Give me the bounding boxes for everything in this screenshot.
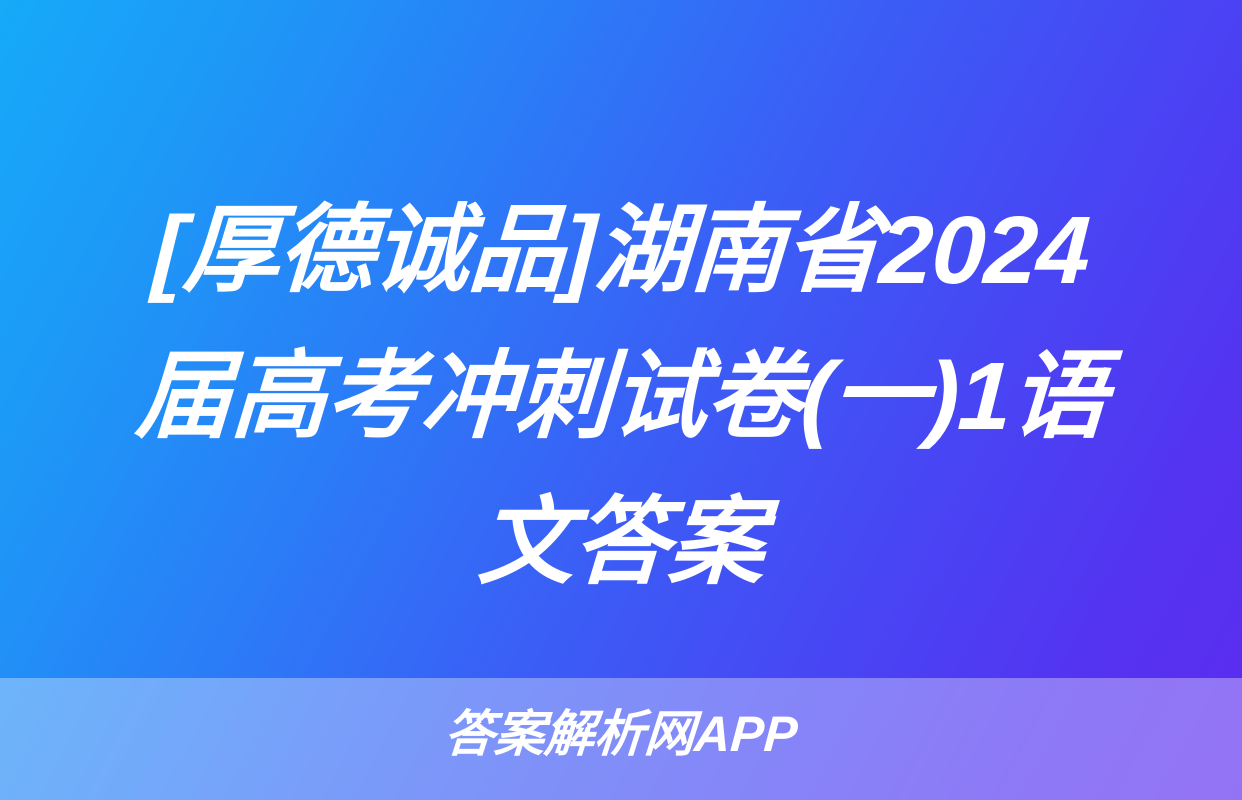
title-line-1: [厚德诚品]湖南省2024 (97, 178, 1145, 324)
title-line-3: 文答案 (97, 470, 1145, 616)
poster-canvas: [厚德诚品]湖南省2024 届高考冲刺试卷(一)1语 文答案 答案解析网APP (0, 0, 1242, 800)
brand-watermark: 答案解析网APP (0, 704, 1242, 764)
title-line-2: 届高考冲刺试卷(一)1语 (97, 324, 1145, 470)
page-title: [厚德诚品]湖南省2024 届高考冲刺试卷(一)1语 文答案 (101, 178, 1141, 616)
